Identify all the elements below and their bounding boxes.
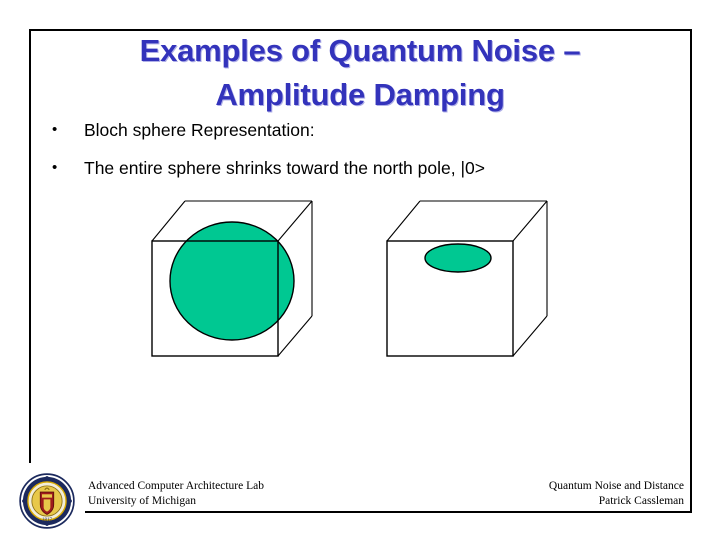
bullet-item: • The entire sphere shrinks toward the n…: [52, 158, 672, 180]
left-figure: [152, 201, 312, 356]
title-line-2: Amplitude Damping: [60, 73, 660, 117]
bullet-item: • Bloch sphere Representation:: [52, 120, 672, 142]
bullet-text: The entire sphere shrinks toward the nor…: [84, 158, 672, 180]
seal-year-text: 1817: [42, 517, 53, 523]
right-figure: [387, 201, 547, 356]
footer-right-text: Quantum Noise and Distance Patrick Cassl…: [549, 479, 684, 509]
bloch-sphere-full: [170, 222, 294, 340]
title-line-1: Examples of Quantum Noise –: [60, 29, 660, 73]
footer-left-line-1: Advanced Computer Architecture Lab: [88, 479, 264, 494]
bloch-sphere-damped: [425, 244, 491, 272]
bullet-marker-icon: •: [52, 158, 84, 178]
slide-canvas: Examples of Quantum Noise – Amplitude Da…: [0, 0, 720, 540]
footer-right-line-1: Quantum Noise and Distance: [549, 479, 684, 494]
bullet-text: Bloch sphere Representation:: [84, 120, 672, 142]
slide-title: Examples of Quantum Noise – Amplitude Da…: [60, 29, 660, 117]
footer-divider: [85, 511, 692, 513]
right-cube-back-edges: [387, 201, 547, 356]
left-cube-front-face: [152, 241, 278, 356]
footer-left-text: Advanced Computer Architecture Lab Unive…: [88, 479, 264, 509]
bullet-marker-icon: •: [52, 120, 84, 140]
bullet-list: • Bloch sphere Representation: • The ent…: [52, 120, 672, 196]
footer-left-line-2: University of Michigan: [88, 494, 264, 509]
footer-right-line-2: Patrick Cassleman: [549, 494, 684, 509]
slide-border-left: [29, 29, 31, 463]
university-seal-icon: 1817: [19, 473, 75, 529]
slide-border-right: [690, 29, 692, 513]
left-cube-back-edges: [152, 201, 312, 356]
right-cube-front-face: [387, 241, 513, 356]
